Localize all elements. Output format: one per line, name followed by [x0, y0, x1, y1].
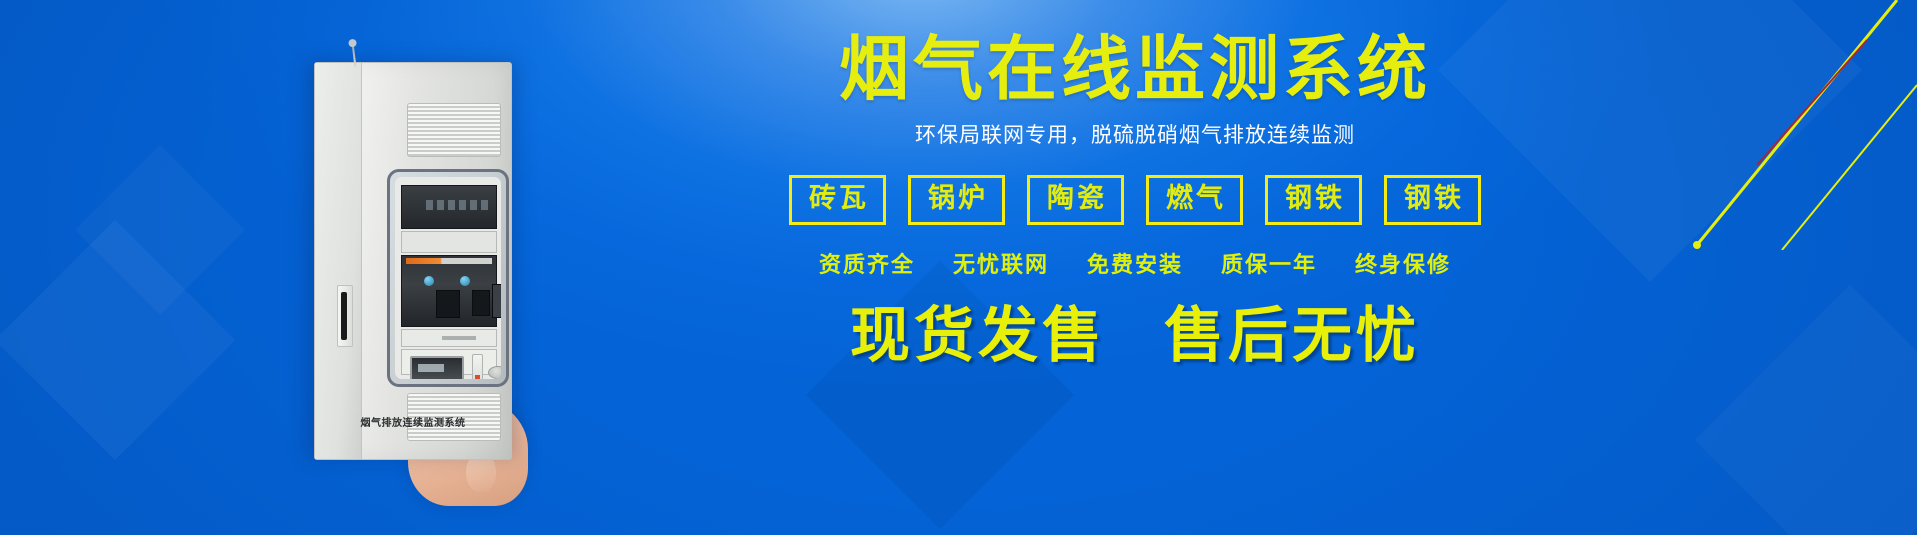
cabinet-window-inner: [395, 177, 501, 379]
feature-item: 终身保修: [1355, 247, 1451, 279]
industry-tag[interactable]: 钢铁: [1265, 175, 1362, 225]
industry-tag[interactable]: 燃气: [1146, 175, 1243, 225]
industry-tag-list: 砖瓦 锅炉 陶瓷 燃气 钢铁 钢铁: [600, 175, 1670, 225]
analyzer-cabinet: 烟气排放连续监测系统: [314, 62, 512, 460]
slogan-text: 现货发售: [850, 305, 1106, 368]
product-photo: 烟气排放连续监测系统: [300, 44, 550, 464]
industry-tag[interactable]: 陶瓷: [1027, 175, 1124, 225]
rack-control-panel: [401, 349, 497, 375]
feature-item: 免费安装: [1087, 247, 1183, 279]
module-knob: [424, 276, 434, 286]
cabinet-window: [387, 169, 509, 387]
module-block: [492, 284, 501, 318]
rack-label-strip: [401, 329, 497, 347]
module-block: [436, 290, 460, 318]
flow-meter-tube: [472, 354, 483, 379]
control-dial: [488, 366, 501, 379]
industry-tag[interactable]: 钢铁: [1384, 175, 1481, 225]
product-caption: 烟气排放连续监测系统: [315, 414, 511, 429]
page-title: 烟气在线监测系统: [590, 34, 1670, 105]
banner-copy: 烟气在线监测系统 环保局联网专用，脱硫脱硝烟气排放连续监测 砖瓦 锅炉 陶瓷 燃…: [590, 34, 1670, 368]
feature-item: 资质齐全: [819, 247, 915, 279]
industry-tag[interactable]: 砖瓦: [789, 175, 886, 225]
module-top-bar: [406, 258, 492, 264]
door-handle: [337, 285, 353, 347]
lcd-screen: [410, 356, 464, 379]
rack-internal-module: [401, 255, 497, 327]
feature-item: 无忧联网: [953, 247, 1049, 279]
industry-tag[interactable]: 锅炉: [908, 175, 1005, 225]
page-subtitle: 环保局联网专用，脱硫脱硝烟气排放连续监测: [600, 119, 1670, 149]
antenna-icon: [352, 43, 357, 67]
feature-item: 质保一年: [1221, 247, 1317, 279]
rack-blank-panel: [401, 231, 497, 253]
rack-display-unit: [401, 185, 497, 229]
module-block: [472, 290, 490, 316]
promo-banner: 烟气排放连续监测系统 烟气在线监测系统 环保局联网专用，脱硫脱硝烟气排放连续监测…: [0, 0, 1917, 535]
feature-list: 资质齐全 无忧联网 免费安装 质保一年 终身保修: [600, 247, 1670, 279]
slogan-text: 售后无忧: [1164, 305, 1420, 368]
slogan-row: 现货发售 售后无忧: [600, 305, 1670, 368]
cabinet-door: [315, 63, 362, 459]
vent-grille-top: [407, 103, 501, 157]
module-knob: [460, 276, 470, 286]
